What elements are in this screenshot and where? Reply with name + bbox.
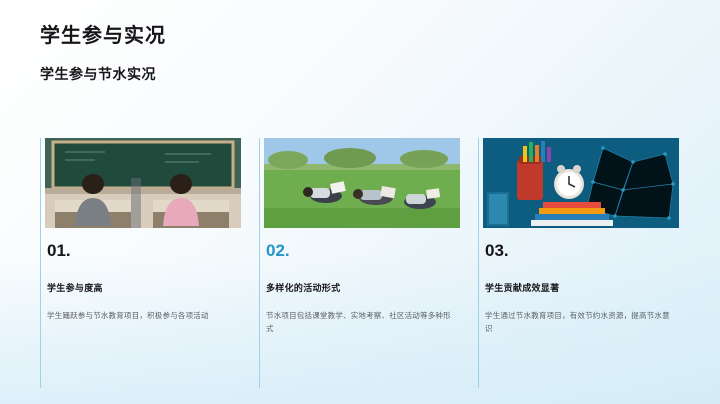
stationery-supplies-photo: [483, 138, 679, 228]
classroom-students-photo: [45, 138, 241, 228]
card-body-3: 学生通过节水教育项目，有效节约水资源，提高节水意识: [485, 310, 673, 336]
card-heading-1: 学生参与度高: [47, 281, 241, 294]
page-title: 学生参与实况: [40, 24, 166, 48]
card-number-3: 03.: [485, 242, 679, 259]
card-body-2: 节水项目包括课堂教学、实地考察、社区活动等多种形式: [266, 310, 454, 336]
card-heading-2: 多样化的活动形式: [266, 281, 460, 294]
card-number-2: 02.: [266, 242, 460, 259]
card-body-1: 学生踊跃参与节水教育项目，积极参与各项活动: [47, 310, 235, 323]
cards-container: 01. 学生参与度高 学生踊跃参与节水教育项目，积极参与各项活动: [40, 138, 680, 388]
students-reading-on-grass-photo: [264, 138, 460, 228]
slide-header: 学生参与实况 学生参与节水实况: [40, 24, 166, 84]
slide-canvas: 学生参与实况 学生参与节水实况: [0, 0, 720, 404]
content-card-3[interactable]: 03. 学生贡献成效显著 学生通过节水教育项目，有效节约水资源，提高节水意识: [478, 138, 679, 388]
card-heading-3: 学生贡献成效显著: [485, 281, 679, 294]
content-card-2[interactable]: 02. 多样化的活动形式 节水项目包括课堂教学、实地考察、社区活动等多种形式: [259, 138, 460, 388]
content-card-1[interactable]: 01. 学生参与度高 学生踊跃参与节水教育项目，积极参与各项活动: [40, 138, 241, 388]
page-subtitle: 学生参与节水实况: [40, 64, 166, 84]
card-number-1: 01.: [47, 242, 241, 259]
